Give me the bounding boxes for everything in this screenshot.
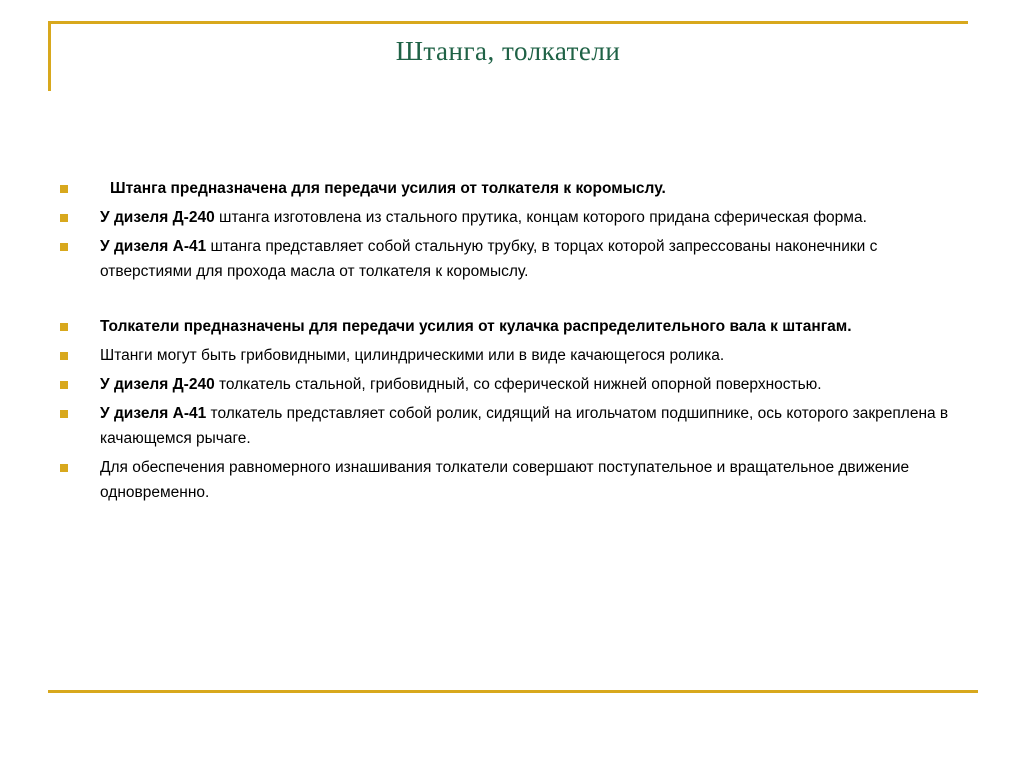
bullet-group-gap — [52, 288, 972, 314]
list-item: Для обеспечения равномерного изнашивания… — [52, 455, 972, 505]
list-item-emphasis: У дизеля А-41 — [100, 238, 206, 255]
list-item: У дизеля А-41 штанга представляет собой … — [52, 234, 972, 284]
square-bullet-icon — [60, 381, 68, 389]
list-item-body: толкатель стальной, грибовидный, со сфер… — [215, 376, 822, 393]
list-item-emphasis: У дизеля Д-240 — [100, 209, 215, 226]
list-item-text: У дизеля А-41 толкатель представляет соб… — [100, 401, 972, 451]
list-item-body: Штанги могут быть грибовидными, цилиндри… — [100, 347, 724, 364]
list-item: Толкатели предназначены для передачи уси… — [52, 314, 972, 339]
list-item-text: У дизеля Д-240 штанга изготовлена из ста… — [100, 205, 972, 230]
square-bullet-icon — [60, 185, 68, 193]
list-item-emphasis: У дизеля А-41 — [100, 405, 206, 422]
list-item-body: толкатель представляет собой ролик, сидя… — [100, 405, 948, 447]
square-bullet-icon — [60, 464, 68, 472]
list-item: Штанги могут быть грибовидными, цилиндри… — [52, 343, 972, 368]
list-item-emphasis: Толкатели предназначены для передачи уси… — [100, 318, 852, 335]
square-bullet-icon — [60, 352, 68, 360]
bullet-list: Штанга предназначена для передачи усилия… — [52, 176, 972, 509]
list-item-text: Для обеспечения равномерного изнашивания… — [100, 455, 972, 505]
list-item-body: Для обеспечения равномерного изнашивания… — [100, 459, 909, 501]
page-title: Штанга, толкатели — [48, 36, 968, 67]
square-bullet-icon — [60, 323, 68, 331]
square-bullet-icon — [60, 410, 68, 418]
bullet-group: Толкатели предназначены для передачи уси… — [52, 314, 972, 505]
list-item-text: Штанги могут быть грибовидными, цилиндри… — [100, 343, 972, 368]
list-item: У дизеля А-41 толкатель представляет соб… — [52, 401, 972, 451]
slide-canvas: Штанга, толкатели Штанга предназначена д… — [0, 0, 1024, 767]
list-item: Штанга предназначена для передачи усилия… — [52, 176, 972, 201]
list-item-text: Штанга предназначена для передачи усилия… — [100, 176, 972, 201]
footer-rule — [48, 690, 978, 693]
list-item-text: У дизеля Д-240 толкатель стальной, грибо… — [100, 372, 972, 397]
list-item-emphasis: Штанга предназначена для передачи усилия… — [110, 180, 666, 197]
bullet-group: Штанга предназначена для передачи усилия… — [52, 176, 972, 284]
header-top-rule — [48, 21, 968, 24]
square-bullet-icon — [60, 243, 68, 251]
list-item-text: У дизеля А-41 штанга представляет собой … — [100, 234, 972, 284]
list-item-emphasis: У дизеля Д-240 — [100, 376, 215, 393]
square-bullet-icon — [60, 214, 68, 222]
list-item-body: штанга представляет собой стальную трубк… — [100, 238, 877, 280]
list-item: У дизеля Д-240 штанга изготовлена из ста… — [52, 205, 972, 230]
list-item-body: штанга изготовлена из стального прутика,… — [215, 209, 867, 226]
list-item: У дизеля Д-240 толкатель стальной, грибо… — [52, 372, 972, 397]
list-item-text: Толкатели предназначены для передачи уси… — [100, 314, 972, 339]
